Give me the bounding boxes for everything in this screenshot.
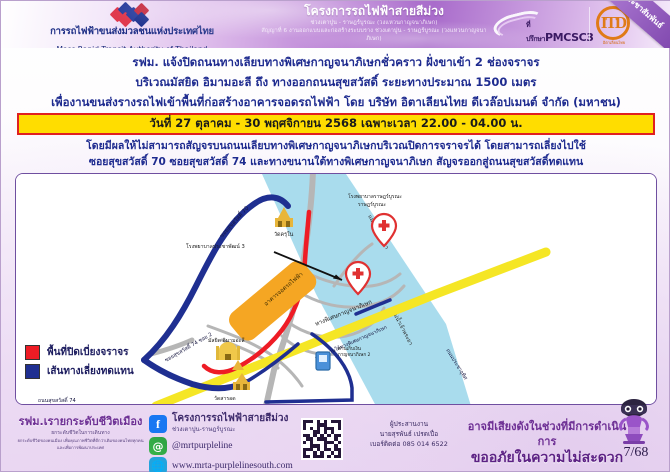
suksawat-label: ถนนสุขสวัสดิ์ 74 [38,396,77,404]
hospital-1-label-line2: ราษฎร์บูรณะ [358,201,386,208]
announcement-line-2: บริเวณมัสยิด อิมามอะลี ถึง ทางออกถนนสุขส… [17,72,655,92]
poster-footer: รฟม.เรายกระดับชีวิตเมือง ยกระดับชีวิตในก… [1,407,670,472]
apology-line-2: ขออภัยในความไม่สะดวก [467,449,627,468]
detour-note: โดยมีผลให้ไม่สามารถสัญจรบนถนนเลียบทางพิเ… [17,138,655,170]
qr-code[interactable] [301,418,343,460]
legend-label-detour: เส้นทางเลี่ยงทดแทน [47,364,134,379]
apology-line-1: อาจมีเสียงดังในช่วงที่มีการดำเนินการ [467,419,627,449]
facebook-page-name: โครงการรถไฟฟ้าสายสีม่วง [172,413,288,424]
detour-note-line-1: โดยมีผลให้ไม่สามารถสัญจรบนถนนเลียบทางพิเ… [17,138,655,154]
slogan-sub-3: และเพื่อการพัฒนาประเทศ [13,444,148,451]
pmcsc-label: PMCSC3 [545,31,594,44]
slogan-main: รฟม.เรายกระดับชีวิตเมือง [13,415,148,429]
instagram-icon[interactable]: @ [149,437,167,455]
project-subtitle-1: ช่วงเตาปูน - ราษฎร์บูรณะ (วงแหวนกาญจนาภิ… [259,19,489,27]
mascot-icon [613,397,655,445]
project-subtitle-2: สัญญาที่ 6 งานออกแบบและก่อสร้างระบบราง ช… [259,27,489,43]
itd-initials: ITD [601,13,625,33]
hospital-2-label: โรงพยาบาลประชาพัฒน์ 3 [186,243,245,250]
date-banner-text: วันที่ 27 ตุลาคม - 30 พฤศจิกายน 2568 เฉพ… [149,115,522,133]
slogan-sub-1: ยกระดับชีวิตในการเดินทาง [13,429,148,437]
hospital-1-label-line1: โรงพยาบาลราษฎร์บูรณะ [348,193,402,200]
toll-booth-label-2: กาญจนาภิเษก 2 [338,352,371,358]
social-links: f โครงการรถไฟฟ้าสายสีม่วง ช่วงเตาปูน-ราษ… [149,413,324,472]
legend-label-closure: พื้นที่ปิดเบี่ยงจราจร [47,345,128,360]
website-url: www.mrta-purplelinesouth.com [172,461,293,471]
poster-header: การรถไฟฟ้าขนส่งมวลชนแห่งประเทศไทย Mass R… [1,1,670,48]
agency-name-thai: การรถไฟฟ้าขนส่งมวลชนแห่งประเทศไทย [7,26,257,37]
coordinator-phone: เบอร์ติดต่อ 085 014 6522 [349,439,469,449]
announcement-line-3: เพื่องานขนส่งรางรถไฟเข้าพื้นที่ก่อสร้างอ… [17,92,655,112]
legend-swatch-blue [25,364,40,379]
mrta-logo-icon [109,3,155,25]
social-website[interactable]: 🌐 www.mrta-purplelinesouth.com [149,457,324,472]
social-facebook[interactable]: f โครงการรถไฟฟ้าสายสีม่วง ช่วงเตาปูน-ราษ… [149,413,324,435]
coordinator-contact: ผู้ประสานงาน นายสุรพันธ์ เปรดเปื่อ เบอร์… [349,419,469,449]
announcement-poster: การรถไฟฟ้าขนส่งมวลชนแห่งประเทศไทย Mass R… [0,0,670,472]
map-legend: พื้นที่ปิดเบี่ยงจราจร เส้นทางเลี่ยงทดแทน [25,345,175,383]
legend-swatch-red [25,345,40,360]
project-title: โครงการรถไฟฟ้าสายสีม่วง [259,4,489,19]
date-banner: วันที่ 27 ตุลาคม - 30 พฤศจิกายน 2568 เฉพ… [17,113,655,135]
legend-item-detour: เส้นทางเลี่ยงทดแทน [25,364,175,379]
facebook-icon[interactable]: f [149,415,167,433]
globe-icon[interactable]: 🌐 [149,457,167,472]
mrta-branding: การรถไฟฟ้าขนส่งมวลชนแห่งประเทศไทย Mass R… [7,3,257,48]
legend-item-closure: พื้นที่ปิดเบี่ยงจราจร [25,345,175,360]
announcement-line-1: รฟม. แจ้งปิดถนนทางเลียบทางพิเศษกาญจนาภิเ… [17,53,655,72]
temple-label: วัดครุใน [274,230,294,238]
toll-booth-icon [316,352,330,370]
slogan-sub-2: ยกระดับชีวิตของคนเมือง เพื่อคุณภาพชีวิตท… [13,437,148,444]
page-number: 7/68 [613,445,659,461]
instagram-handle: @mrtpurpleline [172,441,232,451]
social-instagram[interactable]: @ @mrtpurpleline [149,437,324,455]
mosque-label: มัสยิด อิมามอะลี [208,337,245,344]
project-branding: โครงการรถไฟฟ้าสายสีม่วง ช่วงเตาปูน - ราษ… [259,4,489,43]
mrta-slogan: รฟม.เรายกระดับชีวิตเมือง ยกระดับชีวิตในก… [13,415,148,451]
detour-note-line-2: ซอยสุขสวัสดิ์ 70 ซอยสุขสวัสดิ์ 74 และทาง… [17,154,655,170]
coordinator-role: ผู้ประสานงาน [349,419,469,429]
header-divider [589,7,590,41]
temple-2-label: วัดสารอด [214,395,236,402]
itd-caption: อิตาเลียนไทย [591,39,637,46]
facebook-page-sub: ช่วงเตาปูน-ราษฎร์บูรณะ [172,424,288,435]
agency-name-english: Mass Rapid Transit Authority of Thailand [56,45,207,48]
pmcsc-logo: ที่ปรึกษาPMCSC3 [493,9,585,37]
pmcsc-prefix: ที่ปรึกษา [526,21,545,43]
announcement-text: รฟม. แจ้งปิดถนนทางเลียบทางพิเศษกาญจนาภิเ… [17,53,655,112]
coordinator-name: นายสุรพันธ์ เปรดเปื่อ [349,429,469,439]
apology-notice: อาจมีเสียงดังในช่วงที่มีการดำเนินการ ขออ… [467,419,627,468]
